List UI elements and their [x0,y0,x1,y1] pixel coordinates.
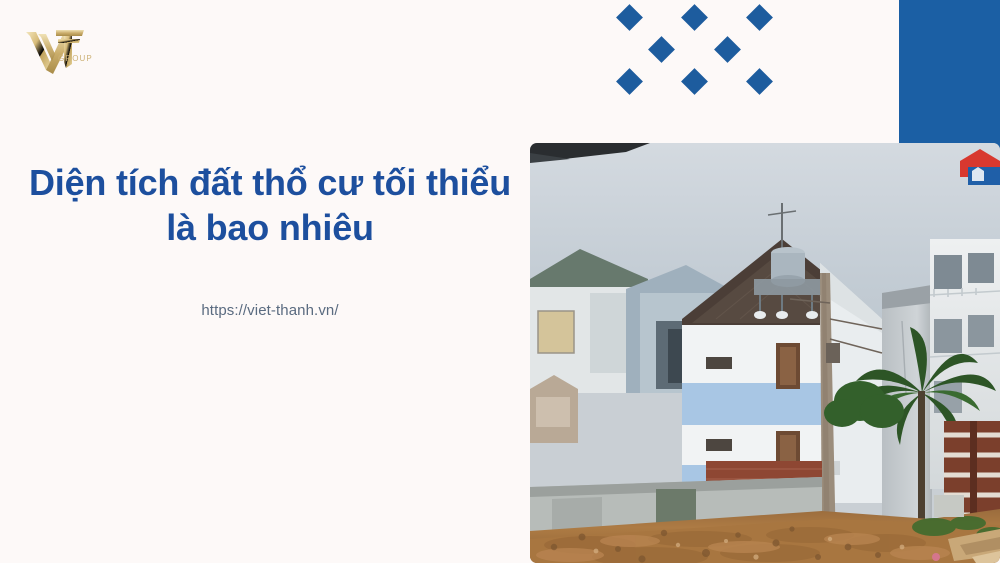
source-url[interactable]: https://viet-thanh.vn/ [0,302,540,319]
diamond-icon [681,4,708,31]
diamond-icon [616,4,643,31]
page-title-line-1: Diện tích đất thổ cư tối thiểu [0,160,540,205]
property-photo [530,143,1000,563]
vt-group-logo-icon: GROUP [22,22,108,76]
diamond-icon [714,36,741,63]
top-right-accent-block [899,0,1000,155]
diamond-icon [746,68,773,95]
page-title: Diện tích đất thổ cư tối thiểu là bao nh… [0,160,540,251]
page-title-line-2: là bao nhiêu [0,205,540,250]
diamond-icon [681,68,708,95]
diamond-pattern-decoration [600,0,780,100]
vacant-land-photo-illustration [530,143,1000,563]
diamond-icon [746,4,773,31]
slide-canvas: GROUP Diện tích đất thổ cư tối thiểu là … [0,0,1000,563]
diamond-icon [616,68,643,95]
brand-logo: GROUP [22,22,108,76]
logo-wordmark: GROUP [58,54,93,63]
diamond-icon [648,36,675,63]
